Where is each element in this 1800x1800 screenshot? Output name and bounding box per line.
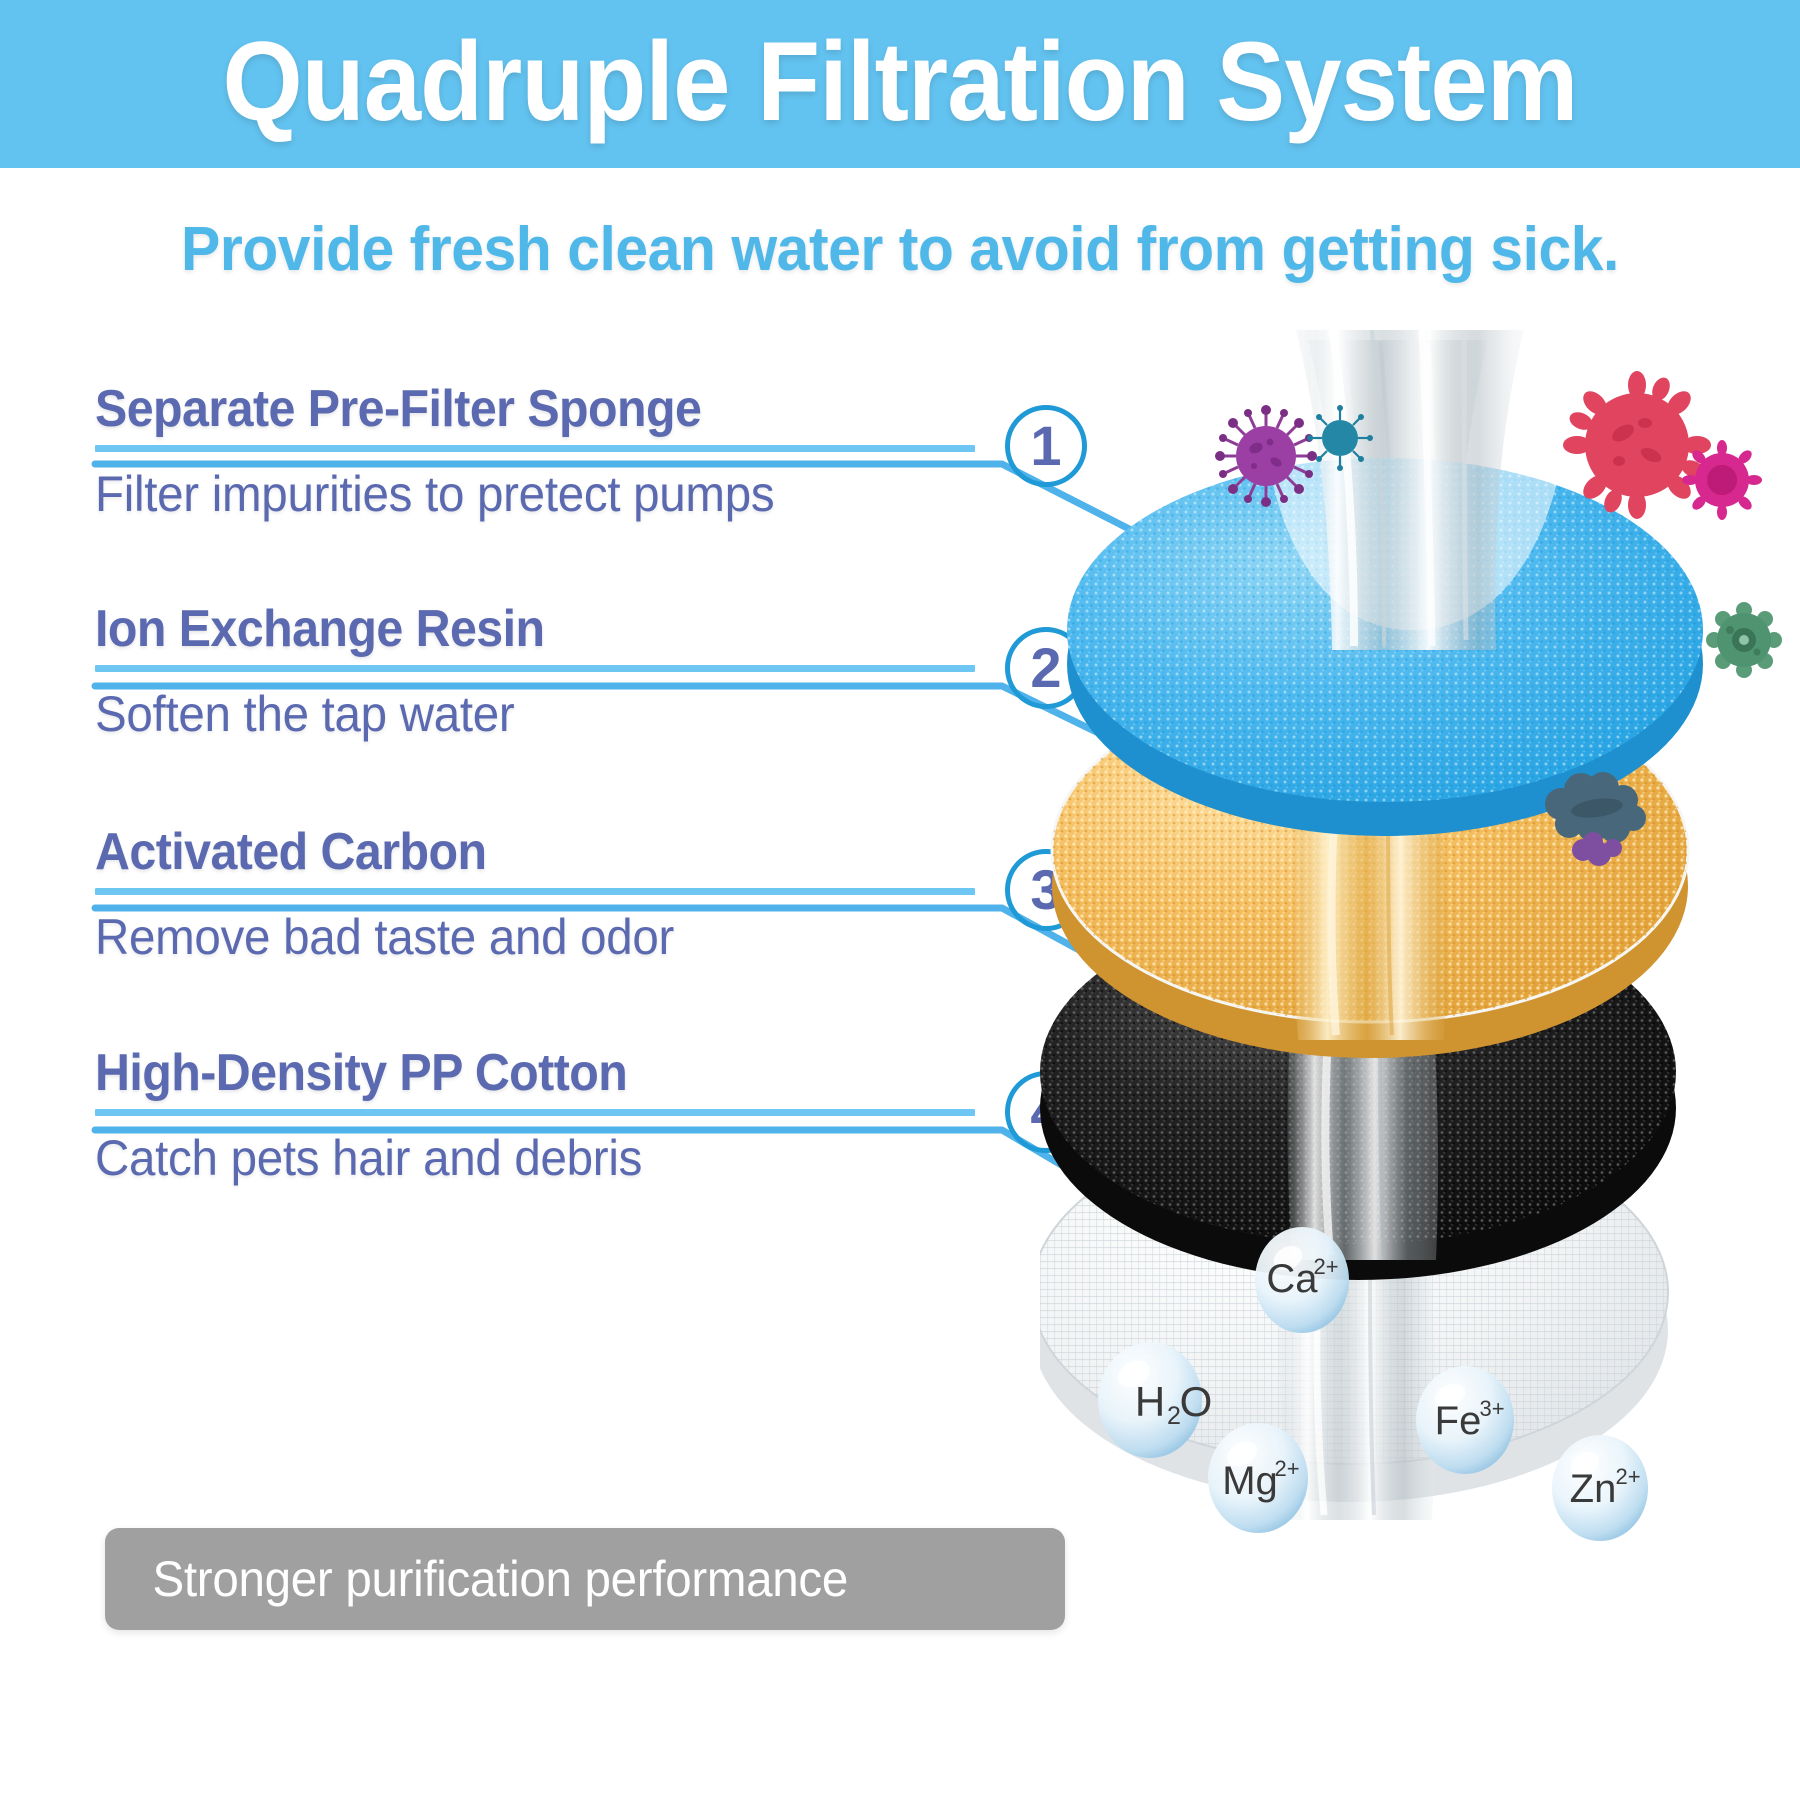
feature-heading-2: Ion Exchange Resin — [95, 602, 913, 657]
green-bacteria-icon — [1706, 602, 1782, 678]
svg-text:Zn: Zn — [1570, 1467, 1617, 1511]
performance-banner[interactable]: Stronger purification performance — [105, 1528, 1065, 1630]
svg-text:3+: 3+ — [1479, 1396, 1504, 1421]
feature-divider-1 — [95, 445, 975, 452]
purple-virus-icon — [1215, 405, 1317, 507]
performance-banner-label: Stronger purification performance — [105, 1550, 848, 1608]
feature-heading-3: Activated Carbon — [95, 825, 913, 880]
feature-item-3: Activated Carbon Remove bad taste and od… — [95, 825, 975, 963]
filter-stack-illustration: Ca 2+ H 2 O Mg 2+ Fe 3+ — [1040, 330, 1800, 1800]
svg-text:O: O — [1180, 1378, 1213, 1425]
feature-divider-4 — [95, 1109, 975, 1116]
svg-text:2+: 2+ — [1313, 1254, 1338, 1279]
feature-divider-2 — [95, 665, 975, 672]
droplet-zn: Zn 2+ — [1552, 1435, 1648, 1541]
feature-item-2: Ion Exchange Resin Soften the tap water — [95, 602, 975, 740]
svg-text:Fe: Fe — [1435, 1399, 1482, 1443]
svg-text:Ca: Ca — [1266, 1257, 1318, 1301]
svg-text:2+: 2+ — [1615, 1464, 1640, 1489]
svg-text:Mg: Mg — [1222, 1459, 1278, 1503]
feature-item-4: High-Density PP Cotton Catch pets hair a… — [95, 1046, 975, 1184]
svg-text:2+: 2+ — [1274, 1456, 1299, 1481]
infographic-root: Quadruple Filtration System Provide fres… — [0, 0, 1800, 1800]
feature-subtext-1: Filter impurities to pretect pumps — [95, 468, 931, 521]
feature-divider-3 — [95, 888, 975, 895]
feature-subtext-4: Catch pets hair and debris — [95, 1132, 931, 1185]
feature-subtext-3: Remove bad taste and odor — [95, 911, 931, 964]
teal-virus-icon — [1307, 405, 1373, 471]
magenta-virus-icon — [1682, 440, 1762, 520]
feature-item-1: Separate Pre-Filter Sponge Filter impuri… — [95, 382, 975, 520]
feature-heading-1: Separate Pre-Filter Sponge — [95, 382, 913, 437]
droplet-ca: Ca 2+ — [1255, 1227, 1349, 1333]
droplet-mg: Mg 2+ — [1208, 1423, 1308, 1533]
feature-heading-4: High-Density PP Cotton — [95, 1046, 913, 1101]
feature-subtext-2: Soften the tap water — [95, 688, 931, 741]
red-coronavirus-icon — [1563, 371, 1711, 519]
droplet-fe: Fe 3+ — [1416, 1366, 1514, 1474]
svg-text:H: H — [1135, 1378, 1165, 1425]
